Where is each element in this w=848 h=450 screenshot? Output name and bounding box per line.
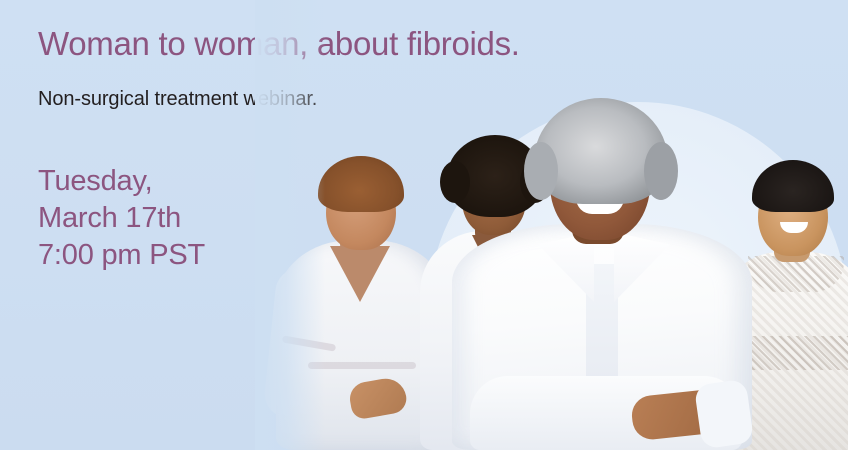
event-datetime: Tuesday, March 17th 7:00 pm PST [38, 163, 205, 274]
event-date: March 17th [38, 200, 205, 237]
event-day: Tuesday, [38, 163, 205, 200]
headline: Woman to woman, about fibroids. [38, 24, 520, 64]
webinar-promo-banner: Woman to woman, about fibroids. Non-surg… [0, 0, 848, 450]
event-time: 7:00 pm PST [38, 237, 205, 274]
subheadline: Non-surgical treatment webinar. [38, 86, 317, 112]
